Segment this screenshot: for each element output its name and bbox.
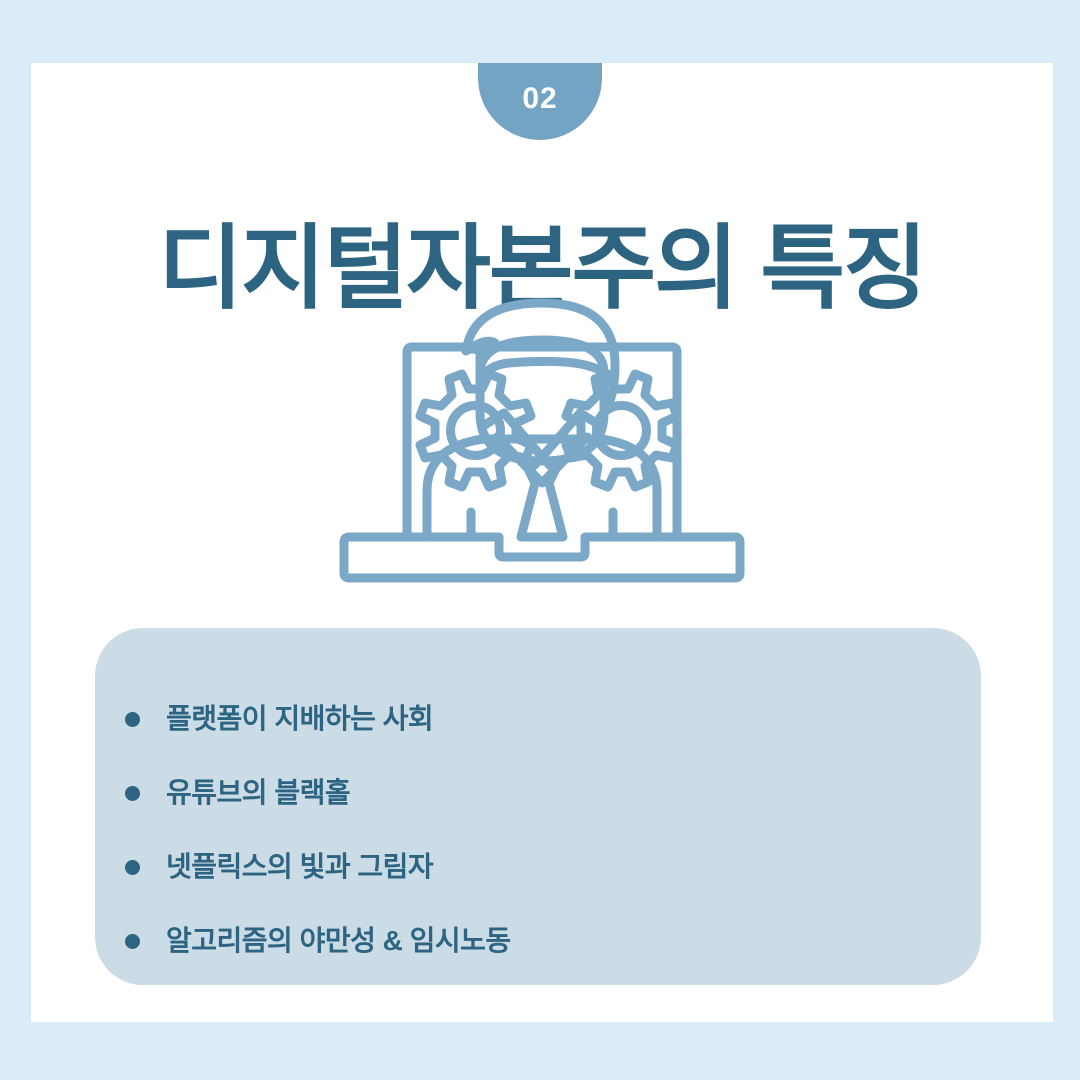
list-item: 유튜브의 블랙홀 (123, 756, 981, 830)
content-card: 02 디지털자본주의 특징 (31, 63, 1053, 1022)
list-item: 넷플릭스의 빛과 그림자 (123, 830, 981, 904)
slide: 02 디지털자본주의 특징 (0, 0, 1080, 1080)
laptop-base (344, 537, 740, 578)
list-item-label: 플랫폼이 지배하는 사회 (166, 705, 433, 733)
bullet-dot-icon (125, 860, 140, 875)
bullet-dot-icon (125, 786, 140, 801)
feature-list: 플랫폼이 지배하는 사회 유튜브의 블랙홀 넷플릭스의 빛과 그림자 알고리즘의… (123, 682, 981, 978)
bullet-panel: 플랫폼이 지배하는 사회 유튜브의 블랙홀 넷플릭스의 빛과 그림자 알고리즘의… (95, 628, 981, 985)
illustration-person-on-laptop-with-gears (323, 285, 761, 595)
person-necktie (521, 457, 563, 537)
list-item-label: 유튜브의 블랙홀 (166, 779, 350, 807)
bullet-dot-icon (125, 712, 140, 727)
gear-right-teeth (566, 374, 677, 487)
bullet-dot-icon (125, 934, 140, 949)
section-number-label: 02 (522, 84, 557, 120)
list-item-label: 넷플릭스의 빛과 그림자 (166, 853, 433, 881)
list-item: 플랫폼이 지배하는 사회 (123, 682, 981, 756)
section-number-badge: 02 (478, 63, 602, 140)
list-item: 알고리즘의 야만성 & 임시노동 (123, 904, 981, 978)
list-item-label: 알고리즘의 야만성 & 임시노동 (166, 927, 511, 955)
